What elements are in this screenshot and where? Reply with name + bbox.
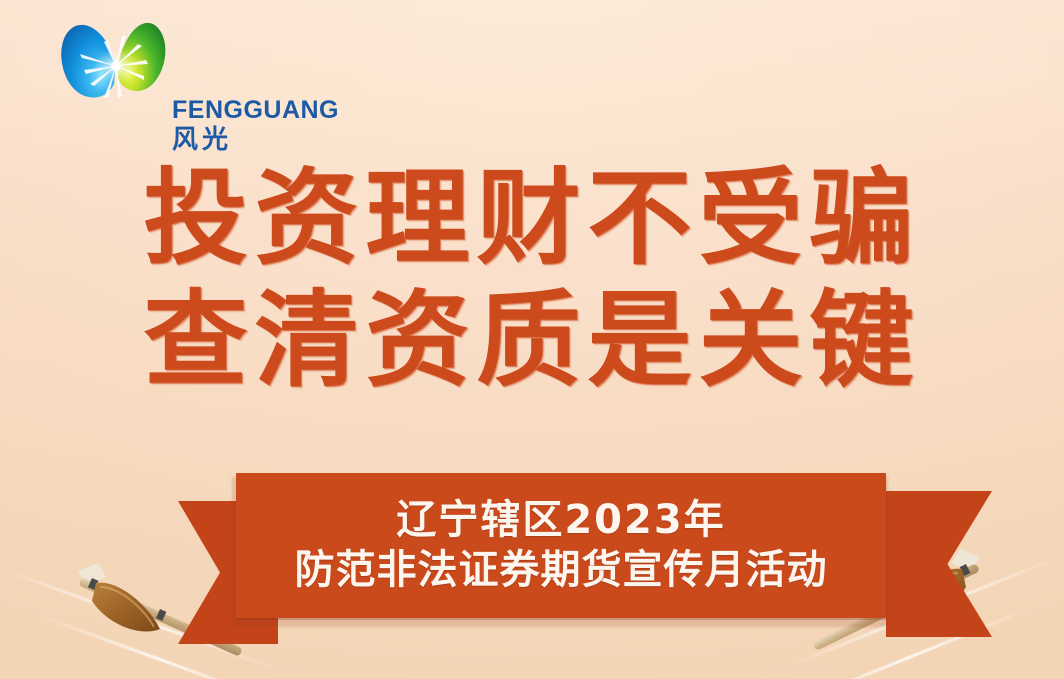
ribbon-line-1: 辽宁辖区2023年 — [396, 498, 725, 543]
headline-block: 投资理财不受骗 查清资质是关键 — [0, 162, 1064, 396]
brand-logo: FENGGUANG 风光 — [56, 14, 286, 146]
brand-latin-name: FENGGUANG — [172, 98, 339, 123]
poster-canvas: FENGGUANG 风光 投资理财不受骗 查清资质是关键 辽宁辖区2023年 防… — [0, 0, 1064, 679]
ribbon-main-band: 辽宁辖区2023年 防范非法证券期货宣传月活动 — [236, 473, 886, 618]
headline-line-1: 投资理财不受骗 — [0, 162, 1064, 274]
brand-text-block: FENGGUANG 风光 — [172, 98, 339, 156]
ribbon-tail-right — [886, 491, 992, 637]
event-ribbon-banner: 辽宁辖区2023年 防范非法证券期货宣传月活动 — [0, 455, 1064, 655]
butterfly-wings-logo-icon — [56, 14, 174, 106]
brand-chinese-name: 风光 — [172, 126, 339, 156]
ribbon-line-2: 防范非法证券期货宣传月活动 — [295, 548, 828, 593]
headline-line-2: 查清资质是关键 — [0, 284, 1064, 396]
